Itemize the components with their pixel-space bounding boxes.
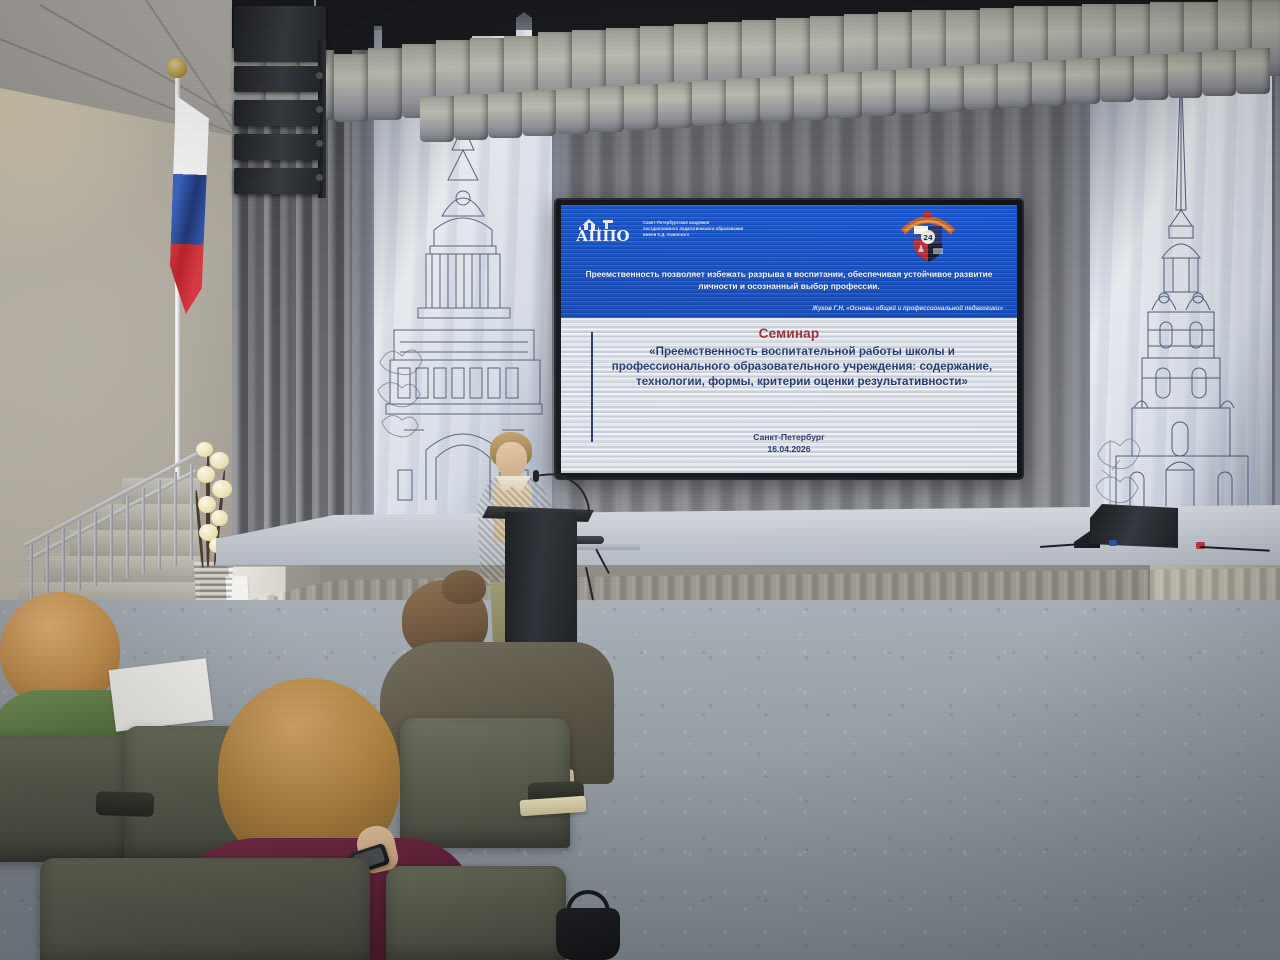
svg-text:АППО: АППО xyxy=(576,227,630,242)
stage-valance xyxy=(232,0,1280,135)
handbag xyxy=(556,908,620,960)
slide-city: Санкт-Петербург xyxy=(561,431,1017,443)
emblem-number: 24 xyxy=(923,234,933,242)
slide: АППО Санкт-Петербургская академия постди… xyxy=(561,205,1017,473)
slide-city-date: Санкт-Петербург 16.04.2026 xyxy=(561,431,1017,455)
slide-header: АППО Санкт-Петербургская академия постди… xyxy=(561,205,1017,318)
stair-handrail xyxy=(24,452,219,602)
stage-monitor-speaker xyxy=(1090,504,1178,548)
slide-body: Семинар «Преемственность воспитательной … xyxy=(561,318,1017,473)
institution-logo: АППО Санкт-Петербургская академия постди… xyxy=(575,216,743,242)
attendee-right-bun xyxy=(442,570,486,604)
coat-of-arms-emblem-icon: 24 xyxy=(897,210,959,264)
seminar-kind-label: Семинар xyxy=(561,326,1017,341)
slide-quote-source: Жуков Г.Н. «Основы общей и профессиональ… xyxy=(812,305,1003,312)
seat-foreground-right[interactable] xyxy=(386,866,566,960)
slide-date: 16.04.2026 xyxy=(561,443,1017,455)
microphone-head-icon xyxy=(533,470,539,482)
appo-logo-icon: АППО xyxy=(575,216,637,242)
slide-quote: Преемственность позволяет избежать разры… xyxy=(573,268,1005,292)
presentation-screen: АППО Санкт-Петербургская академия постди… xyxy=(556,200,1022,478)
cable-connector-blue xyxy=(1109,540,1117,546)
institution-name: Санкт-Петербургская академия постдипломн… xyxy=(643,220,743,238)
flag-finial xyxy=(167,58,187,78)
seat-arm-1 xyxy=(96,791,155,817)
accent-bar xyxy=(591,332,593,442)
seat-foreground[interactable] xyxy=(40,858,370,960)
auditorium-photo: АППО Санкт-Петербургская академия постди… xyxy=(0,0,1280,960)
line-array-speaker-cluster xyxy=(232,0,340,210)
seminar-title: «Преемственность воспитательной работы ш… xyxy=(599,344,1005,390)
